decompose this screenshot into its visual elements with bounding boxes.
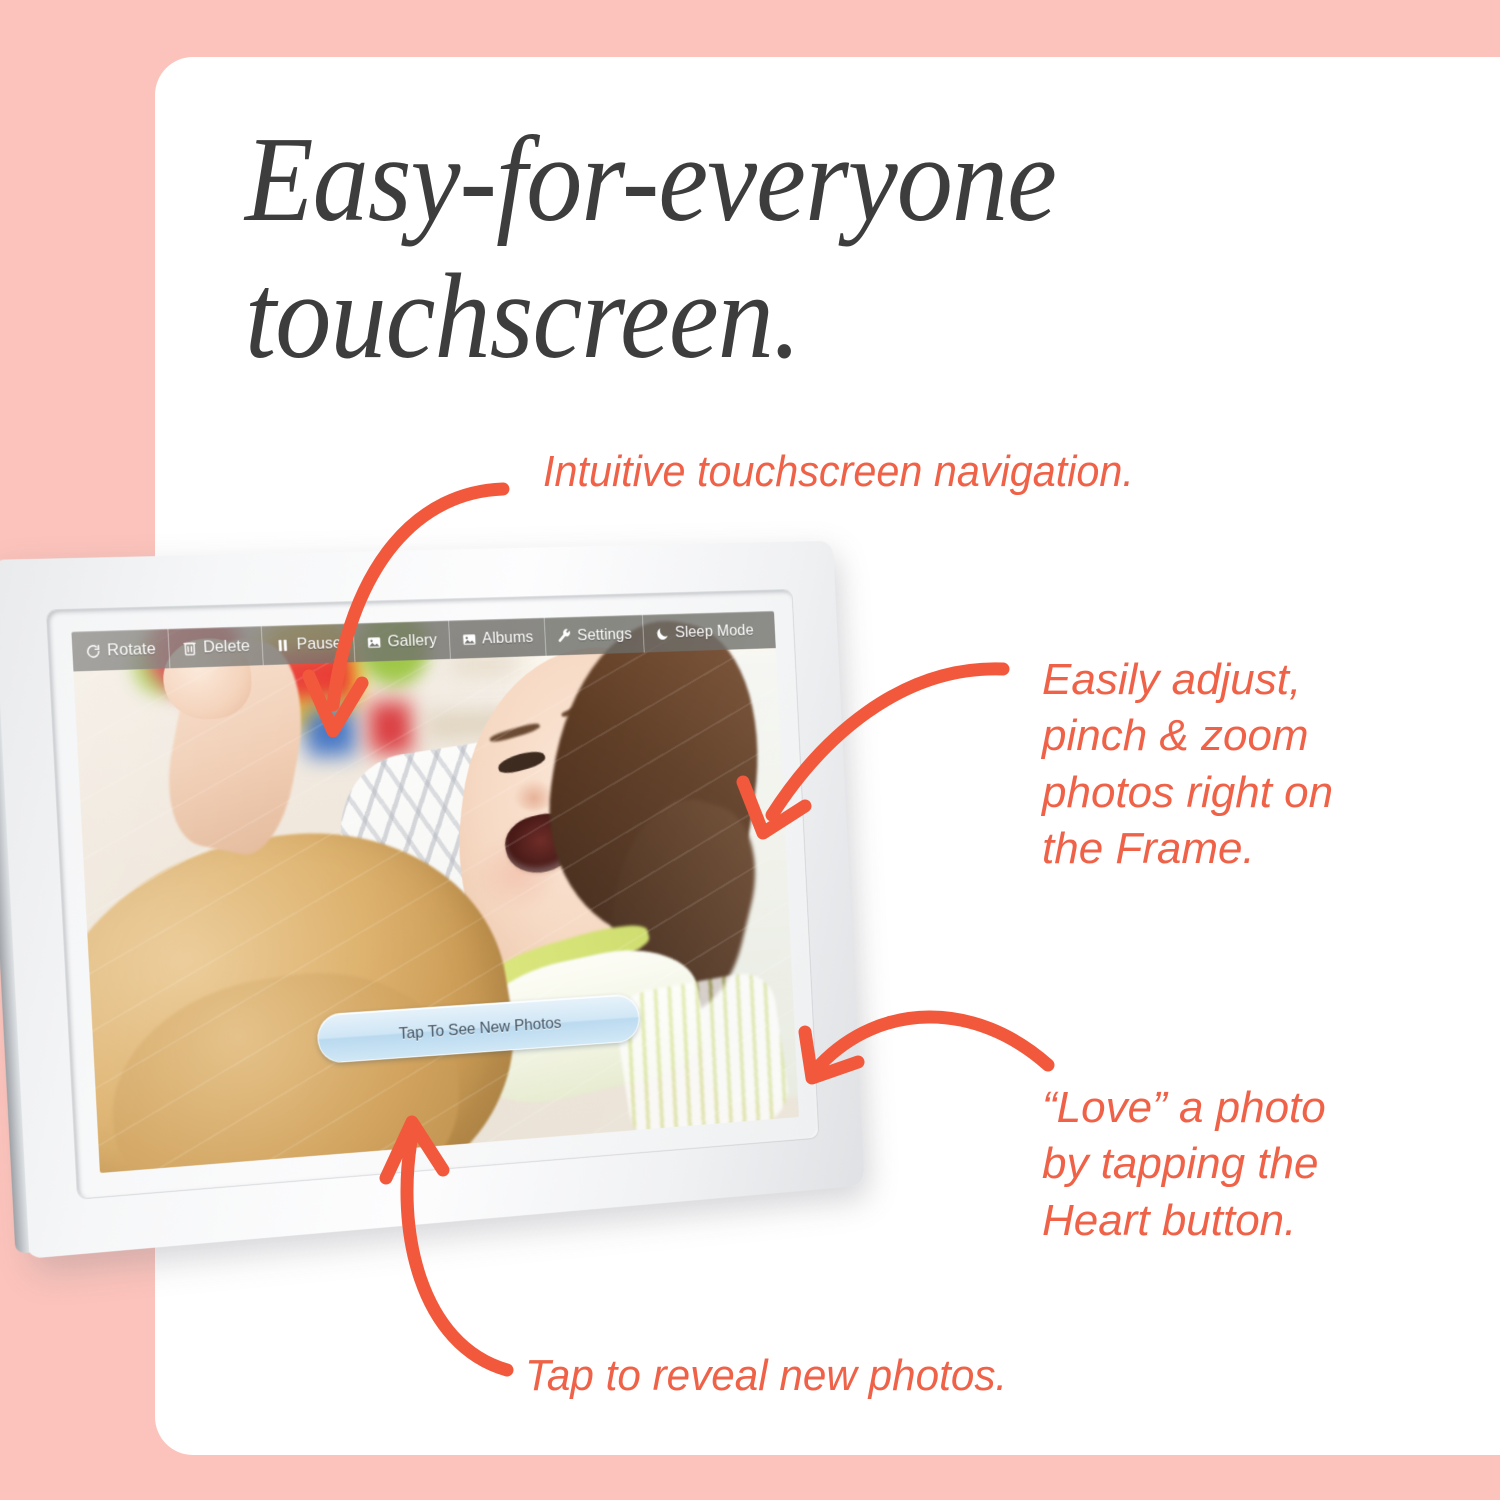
toolbar-label-sleep-mode: Sleep Mode — [675, 621, 754, 642]
image-icon — [366, 634, 382, 651]
callout-love-line-1: “Love” a photo — [1042, 1080, 1422, 1136]
moon-icon — [655, 625, 671, 641]
toolbar-label-rotate: Rotate — [107, 639, 157, 660]
callout-tap: Tap to reveal new photos. — [525, 1348, 1007, 1404]
page-title: Easy-for-everyone touchscreen. — [245, 112, 1275, 385]
frame-bezel: Rotate Delete Pause — [47, 590, 819, 1199]
callout-zoom-line-1: Easily adjust, — [1042, 652, 1422, 708]
displayed-photo — [71, 611, 799, 1173]
pause-icon — [275, 636, 292, 653]
page-title-line-1: Easy-for-everyone — [245, 112, 1275, 249]
callout-zoom-line-4: the Frame. — [1042, 821, 1422, 877]
photo-watermark — [71, 611, 799, 1173]
callout-zoom-line-2: pinch & zoom — [1042, 708, 1422, 764]
callout-navigation-text: Intuitive touchscreen navigation. — [543, 447, 1134, 496]
image-icon — [461, 631, 477, 648]
toolbar-button-settings[interactable]: Settings — [545, 615, 645, 656]
toolbar-button-gallery[interactable]: Gallery — [354, 621, 451, 663]
toolbar-label-gallery: Gallery — [387, 631, 438, 652]
callout-navigation: Intuitive touchscreen navigation. — [543, 444, 1134, 500]
toolbar-label-albums: Albums — [482, 628, 534, 649]
page-title-line-2: touchscreen. — [245, 249, 1275, 386]
toolbar-button-albums[interactable]: Albums — [449, 618, 547, 659]
frame-screen: Rotate Delete Pause — [71, 611, 799, 1173]
callout-tap-text: Tap to reveal new photos. — [525, 1351, 1007, 1400]
poster-canvas: Easy-for-everyone touchscreen. — [0, 0, 1500, 1500]
digital-photo-frame: Rotate Delete Pause — [8, 560, 988, 1300]
toolbar-button-rotate[interactable]: Rotate — [71, 629, 170, 672]
callout-love-line-2: by tapping the — [1042, 1136, 1422, 1192]
callout-love: “Love” a photo by tapping the Heart butt… — [1042, 1080, 1422, 1249]
callout-zoom: Easily adjust, pinch & zoom photos right… — [1042, 652, 1422, 877]
callout-zoom-line-3: photos right on — [1042, 765, 1422, 821]
rotate-icon — [85, 642, 102, 659]
toolbar-label-settings: Settings — [577, 625, 632, 646]
toolbar-label-pause: Pause — [296, 633, 342, 654]
tap-button-label: Tap To See New Photos — [398, 1013, 561, 1043]
frame-body: Rotate Delete Pause — [0, 541, 864, 1259]
toolbar-button-delete[interactable]: Delete — [168, 626, 264, 668]
toolbar-label-delete: Delete — [203, 636, 251, 657]
wrench-icon — [557, 628, 573, 645]
trash-icon — [181, 639, 198, 656]
toolbar-button-pause[interactable]: Pause — [262, 623, 355, 665]
callout-love-line-3: Heart button. — [1042, 1193, 1422, 1249]
toolbar-button-sleep-mode[interactable]: Sleep Mode — [643, 611, 766, 652]
